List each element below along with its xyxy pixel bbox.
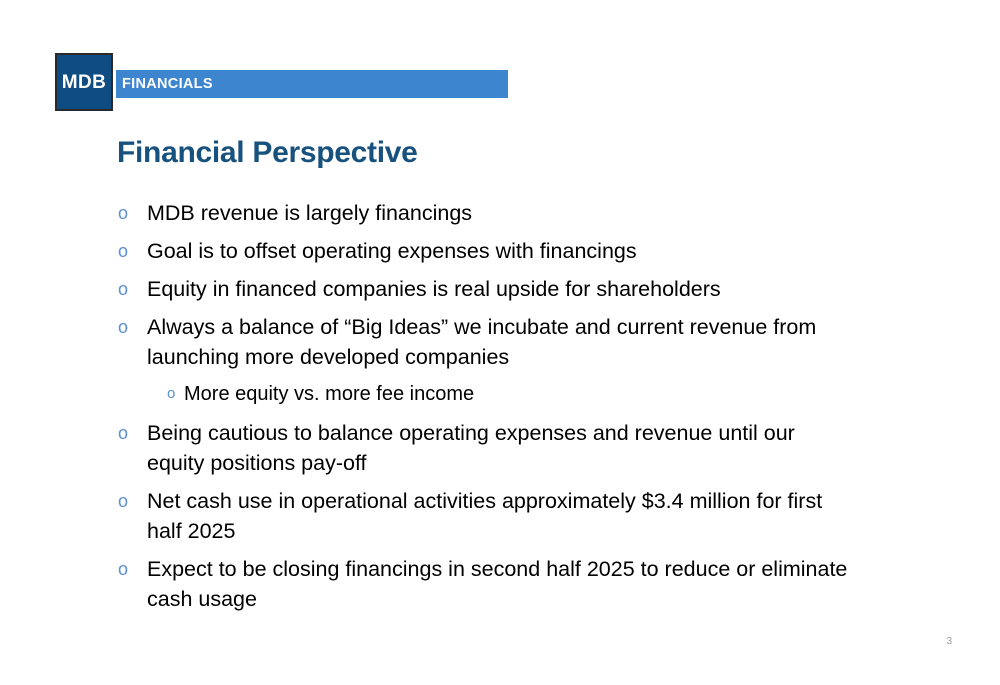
- list-item-text: Expect to be closing financings in secon…: [147, 554, 848, 614]
- bullet-marker-icon: o: [118, 274, 147, 304]
- section-banner: FINANCIALS: [116, 70, 508, 98]
- presentation-slide: MDB FINANCIALS Financial Perspective o M…: [0, 0, 1000, 685]
- page-number: 3: [946, 637, 952, 647]
- list-item: o Expect to be closing financings in sec…: [118, 554, 848, 614]
- bullet-marker-icon: o: [167, 380, 184, 408]
- bullet-marker-icon: o: [118, 198, 147, 228]
- page-title: Financial Perspective: [117, 136, 418, 171]
- list-item-text: Equity in financed companies is real ups…: [147, 274, 848, 304]
- list-item-text: Net cash use in operational activities a…: [147, 486, 848, 546]
- mdb-logo-text: MDB: [62, 73, 106, 92]
- mdb-logo: MDB: [55, 53, 113, 111]
- list-item-sub: o More equity vs. more fee income: [118, 380, 848, 408]
- bullet-marker-icon: o: [118, 312, 147, 342]
- list-item: o Goal is to offset operating expenses w…: [118, 236, 848, 266]
- list-item: o MDB revenue is largely financings: [118, 198, 848, 228]
- bullet-marker-icon: o: [118, 486, 147, 516]
- bullet-marker-icon: o: [118, 418, 147, 448]
- list-item: o Being cautious to balance operating ex…: [118, 418, 848, 478]
- bullet-list: o MDB revenue is largely financings o Go…: [118, 198, 848, 622]
- bullet-marker-icon: o: [118, 554, 147, 584]
- list-item-text: Always a balance of “Big Ideas” we incub…: [147, 312, 848, 372]
- list-item-text: Being cautious to balance operating expe…: [147, 418, 848, 478]
- list-item: o Always a balance of “Big Ideas” we inc…: [118, 312, 848, 372]
- slide-header: MDB FINANCIALS: [0, 0, 1000, 120]
- list-item-text: MDB revenue is largely financings: [147, 198, 848, 228]
- section-banner-label: FINANCIALS: [116, 77, 213, 92]
- list-item-text: Goal is to offset operating expenses wit…: [147, 236, 848, 266]
- bullet-marker-icon: o: [118, 236, 147, 266]
- list-item-text: More equity vs. more fee income: [184, 380, 848, 408]
- list-item: o Net cash use in operational activities…: [118, 486, 848, 546]
- list-item: o Equity in financed companies is real u…: [118, 274, 848, 304]
